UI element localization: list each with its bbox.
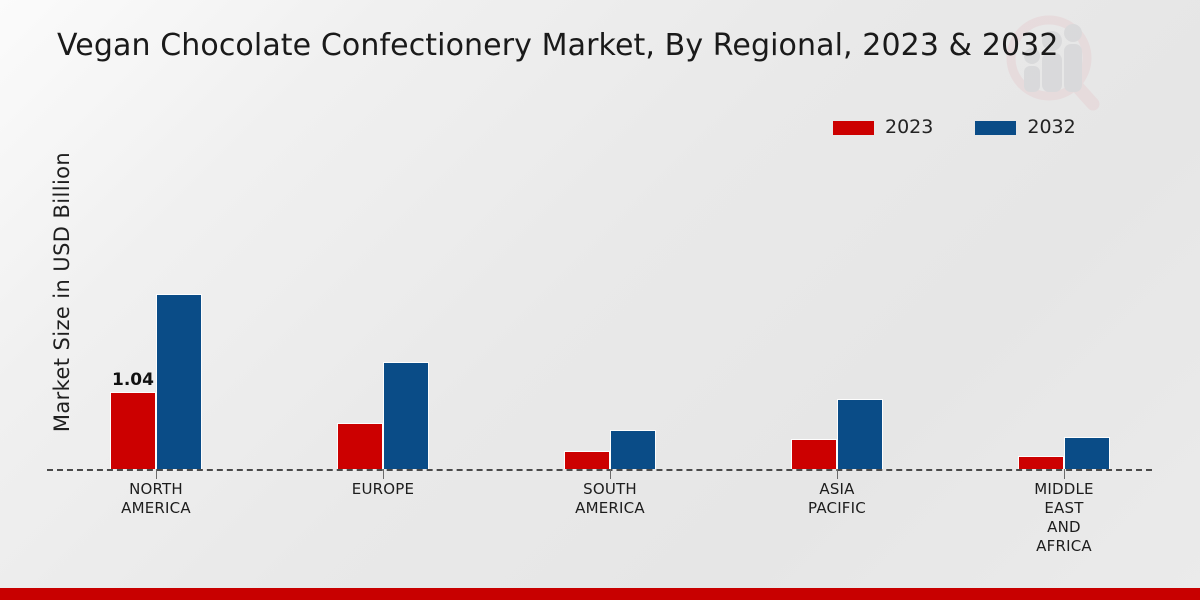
bar-pair bbox=[564, 430, 656, 469]
bar-pair bbox=[791, 399, 883, 469]
chart-container: Vegan Chocolate Confectionery Market, By… bbox=[0, 0, 1200, 600]
x-axis-tick-middle-east-and-africa bbox=[1064, 469, 1065, 479]
bar-2032-north-america[interactable] bbox=[156, 294, 202, 469]
plot-area: 1.04 NORTHAMERICA EUROPE SOUTHAMERICA bbox=[0, 0, 1200, 600]
x-axis-tick-north-america bbox=[156, 469, 157, 479]
bar-2023-asia-pacific[interactable] bbox=[791, 439, 837, 469]
x-axis-baseline bbox=[47, 469, 1152, 471]
x-axis-label-asia-pacific: ASIAPACIFIC bbox=[747, 480, 927, 518]
bar-2023-middle-east-and-africa[interactable] bbox=[1018, 456, 1064, 469]
bar-2023-europe[interactable] bbox=[337, 423, 383, 469]
bar-2032-south-america[interactable] bbox=[610, 430, 656, 469]
x-axis-label-south-america: SOUTHAMERICA bbox=[520, 480, 700, 518]
bar-2032-asia-pacific[interactable] bbox=[837, 399, 883, 469]
x-axis-label-europe: EUROPE bbox=[293, 480, 473, 499]
x-axis-label-north-america: NORTHAMERICA bbox=[66, 480, 246, 518]
x-axis-tick-europe bbox=[383, 469, 384, 479]
x-axis-tick-asia-pacific bbox=[837, 469, 838, 479]
x-axis-tick-south-america bbox=[610, 469, 611, 479]
bar-2032-europe[interactable] bbox=[383, 362, 429, 469]
bar-pair: 1.04 bbox=[110, 294, 202, 469]
bar-2023-north-america[interactable]: 1.04 bbox=[110, 392, 156, 469]
bar-pair bbox=[337, 362, 429, 469]
bar-2032-middle-east-and-africa[interactable] bbox=[1064, 437, 1110, 469]
footer-accent-strip bbox=[0, 588, 1200, 600]
bar-pair bbox=[1018, 437, 1110, 469]
bar-2023-south-america[interactable] bbox=[564, 451, 610, 469]
bar-value-label: 1.04 bbox=[112, 370, 154, 390]
x-axis-label-middle-east-and-africa: MIDDLEEASTANDAFRICA bbox=[974, 480, 1154, 556]
